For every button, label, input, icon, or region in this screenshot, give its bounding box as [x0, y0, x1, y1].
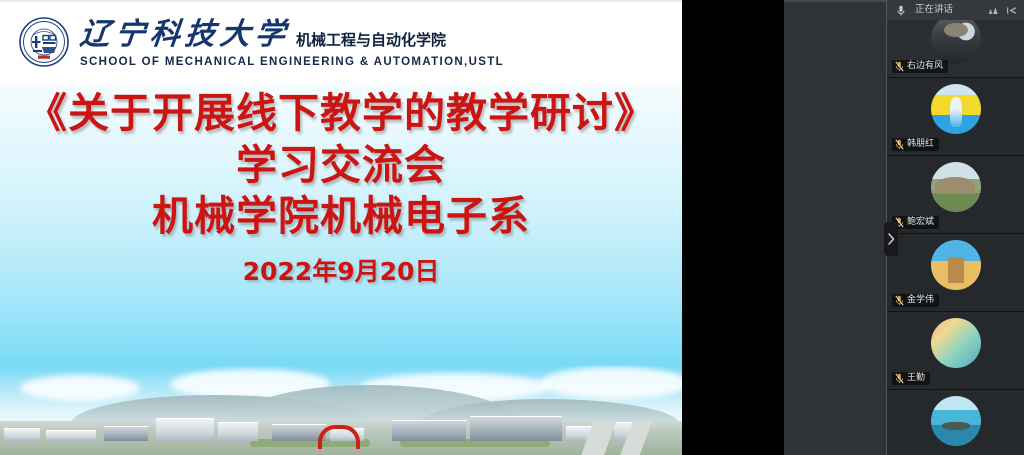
- avatar: [931, 162, 981, 212]
- avatar: [931, 318, 981, 368]
- building-shape: [4, 428, 40, 441]
- slide-title-line-2: 学习交流会: [0, 144, 682, 187]
- university-name-cn: 辽宁科技大学: [78, 20, 291, 50]
- campus-panorama-photo: [0, 365, 682, 455]
- red-arch-sculpture: [318, 425, 360, 449]
- video-conference-screen: 辽宁科技大学 机械工程与自动化学院 SCHOOL OF MECHANICAL E…: [0, 0, 1024, 455]
- microphone-icon: [897, 4, 905, 16]
- cloud-shape: [20, 375, 140, 401]
- stage-background-gray: [784, 0, 886, 455]
- avatar: [931, 396, 981, 446]
- participant-name: 鲍宏斌: [907, 217, 934, 228]
- building-shape: [104, 426, 148, 441]
- speaking-status-label: 正在讲话: [915, 5, 953, 15]
- participant-tile[interactable]: 正在讲话: [887, 0, 1024, 78]
- shared-screen-stage[interactable]: 辽宁科技大学 机械工程与自动化学院 SCHOOL OF MECHANICAL E…: [0, 0, 682, 455]
- microphone-muted-icon: [895, 295, 904, 306]
- building-shape: [46, 430, 96, 441]
- slide-title-line-1: 《关于开展线下教学的教学研讨》: [0, 92, 682, 135]
- sidebar-status-actions[interactable]: [987, 4, 1018, 17]
- building-shape: [156, 418, 214, 441]
- participant-name: 右边有风: [907, 61, 943, 72]
- microphone-muted-icon: [895, 61, 904, 72]
- participant-nametag: 鲍宏斌: [892, 216, 939, 229]
- chevron-right-icon: [887, 233, 895, 245]
- microphone-muted-icon: [895, 139, 904, 150]
- participant-name: 金学伟: [907, 295, 934, 306]
- participant-nametag: 右边有风: [892, 60, 948, 73]
- slide-title-line-3: 机械学院机械电子系: [0, 195, 682, 238]
- participant-nametag: 金学伟: [892, 294, 939, 307]
- avatar: [931, 240, 981, 290]
- participant-tile[interactable]: [887, 390, 1024, 455]
- participant-tile[interactable]: 韩朋红: [887, 78, 1024, 156]
- building-shape: [218, 422, 258, 441]
- letterhead-text-block: 辽宁科技大学 机械工程与自动化学院 SCHOOL OF MECHANICAL E…: [80, 20, 640, 68]
- stage-top-divider: [784, 0, 886, 2]
- sidebar-collapse-button[interactable]: [884, 222, 898, 256]
- building-shape: [392, 420, 466, 441]
- slide-letterhead: 辽宁科技大学 机械工程与自动化学院 SCHOOL OF MECHANICAL E…: [0, 2, 682, 84]
- microphone-muted-icon: [895, 373, 904, 384]
- participant-nametag: 韩朋红: [892, 138, 939, 151]
- participant-nametag: 王勤: [892, 372, 930, 385]
- highway-shape: [532, 421, 682, 455]
- presentation-slide: 辽宁科技大学 机械工程与自动化学院 SCHOOL OF MECHANICAL E…: [0, 0, 682, 455]
- avatar: [931, 84, 981, 134]
- stage-letterbox-black: [682, 0, 784, 455]
- school-english-name: SCHOOL OF MECHANICAL ENGINEERING & AUTOM…: [80, 56, 640, 68]
- minimize-icon[interactable]: [1005, 4, 1018, 17]
- university-seal-icon: [18, 16, 70, 68]
- participant-name: 韩朋红: [907, 139, 934, 150]
- cloud-shape: [540, 367, 682, 399]
- participant-tile[interactable]: 金学伟: [887, 234, 1024, 312]
- college-name-cn: 机械工程与自动化学院: [296, 33, 446, 50]
- slide-title-block: 《关于开展线下教学的教学研讨》 学习交流会 机械学院机械电子系 2022年9月2…: [0, 92, 682, 288]
- participant-tile[interactable]: 鲍宏斌: [887, 156, 1024, 234]
- participant-sidebar[interactable]: 正在讲话: [886, 0, 1024, 455]
- participant-tile[interactable]: 王勤: [887, 312, 1024, 390]
- signal-strength-icon[interactable]: [987, 4, 1000, 17]
- avatar: [931, 14, 981, 64]
- sidebar-status-bar: 正在讲话: [887, 0, 1024, 20]
- slide-date: 2022年9月20日: [0, 252, 682, 288]
- participant-name: 王勤: [907, 373, 925, 384]
